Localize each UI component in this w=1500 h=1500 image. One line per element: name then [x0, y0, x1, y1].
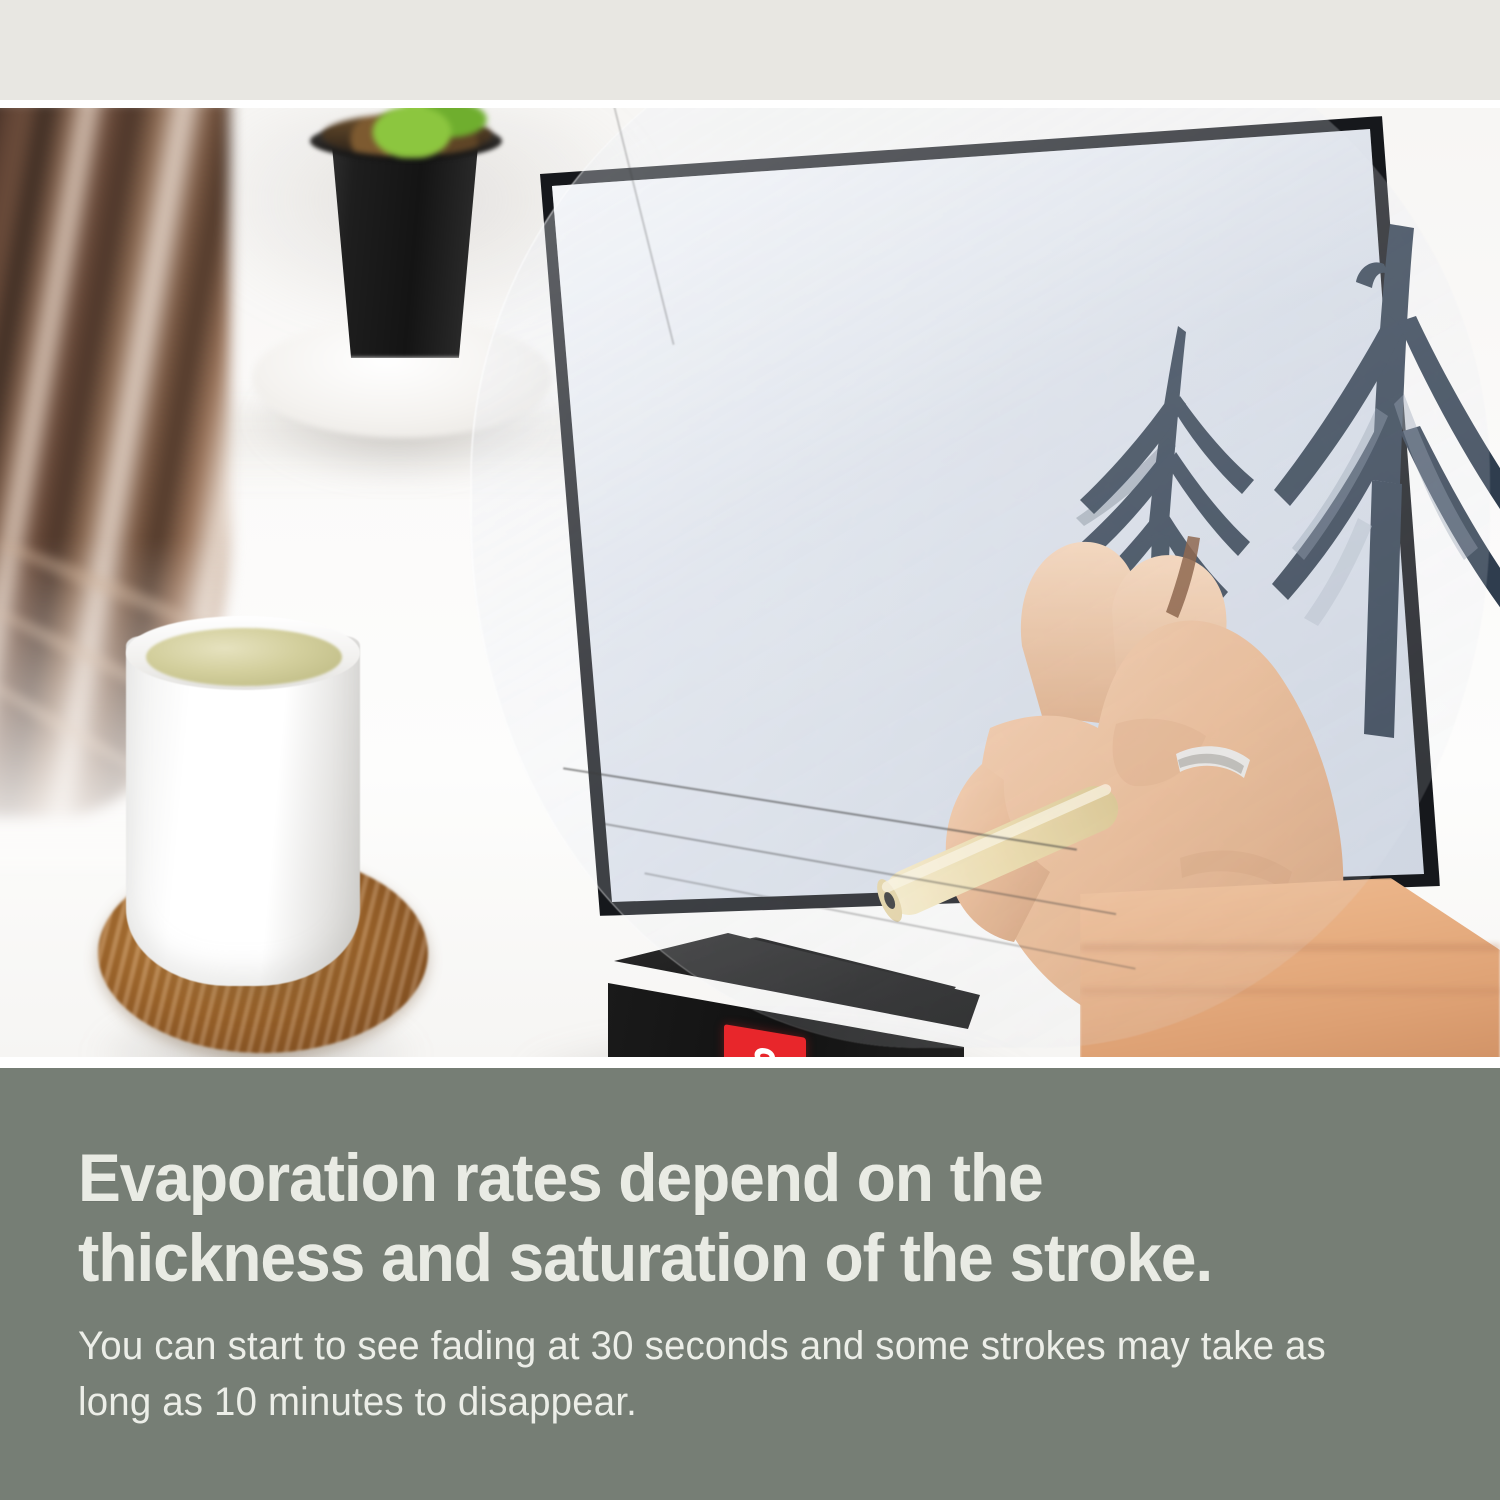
marketing-image: Evaporation rates depend on the thicknes… — [0, 0, 1500, 1500]
stand-base — [598, 885, 998, 1057]
caption-band: Evaporation rates depend on the thicknes… — [0, 1068, 1500, 1500]
caption-subtext: You can start to see fading at 30 second… — [78, 1318, 1345, 1430]
top-spacer-band — [0, 0, 1500, 100]
green-tea — [146, 628, 342, 686]
board-edge-highlight — [492, 126, 532, 906]
brand-logo-icon — [742, 1040, 788, 1057]
forearm — [1080, 878, 1500, 1057]
caption-headline: Evaporation rates depend on the thicknes… — [78, 1138, 1335, 1298]
product-photo — [0, 108, 1500, 1057]
